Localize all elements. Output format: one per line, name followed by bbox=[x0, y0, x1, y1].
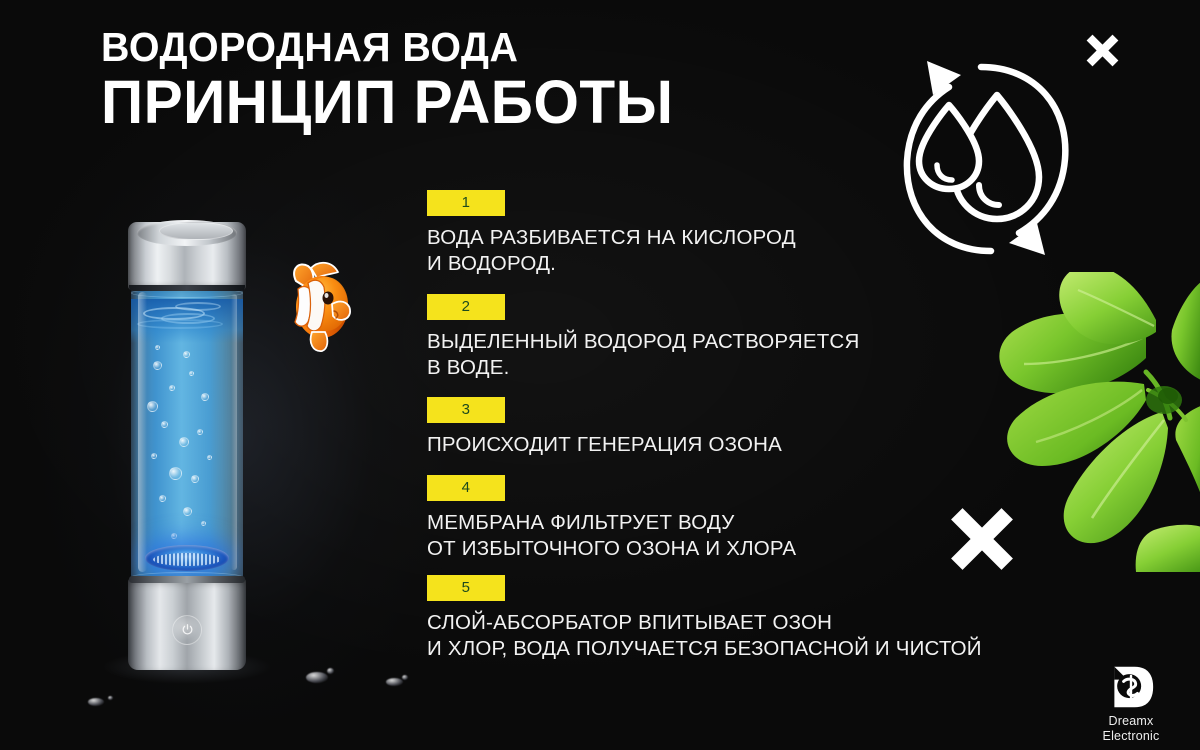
hydrogen-bubble bbox=[155, 345, 160, 350]
water-droplet bbox=[402, 675, 408, 680]
step-number-badge: 5 bbox=[427, 575, 505, 601]
hydrogen-bubble bbox=[183, 507, 192, 516]
bottle-base bbox=[128, 578, 246, 670]
hydrogen-bubble bbox=[169, 467, 182, 480]
hydrogen-bubble bbox=[189, 371, 194, 376]
step-number-badge: 3 bbox=[427, 397, 505, 423]
step-number-badge: 2 bbox=[427, 294, 505, 320]
water-droplet bbox=[386, 678, 403, 686]
step-item-5: 5 СЛОЙ-АБСОРБАТОР ВПИТЫВАЕТ ОЗОН И ХЛОР,… bbox=[427, 575, 982, 662]
electrolysis-mesh bbox=[153, 553, 221, 566]
hydrogen-bubble bbox=[207, 455, 212, 460]
power-icon bbox=[181, 623, 194, 636]
hydrogen-bubble bbox=[171, 533, 177, 539]
hydrogen-bubble bbox=[161, 421, 168, 428]
water-ripple bbox=[137, 319, 223, 329]
glass-highlight-left bbox=[138, 292, 147, 572]
hydrogen-water-bottle bbox=[128, 222, 246, 670]
water-droplet bbox=[327, 668, 334, 674]
water-ripple bbox=[175, 302, 221, 311]
step-description: СЛОЙ-АБСОРБАТОР ВПИТЫВАЕТ ОЗОН И ХЛОР, В… bbox=[427, 610, 982, 662]
hydrogen-bubble bbox=[159, 495, 166, 502]
step-item-2: 2 ВЫДЕЛЕННЫЙ ВОДОРОД РАСТВОРЯЕТСЯ В ВОДЕ… bbox=[427, 294, 859, 381]
heading-line-2: ПРИНЦИП РАБОТЫ bbox=[101, 72, 673, 133]
hydrogen-bubble bbox=[153, 361, 162, 370]
step-description: ВОДА РАЗБИВАЕТСЯ НА КИСЛОРОД И ВОДОРОД. bbox=[427, 225, 796, 277]
hydrogen-bubble bbox=[201, 393, 209, 401]
bottle-glass-body bbox=[131, 289, 243, 579]
cap-seal-band bbox=[129, 285, 245, 291]
step-number-badge: 1 bbox=[427, 190, 505, 216]
hydrogen-bubble bbox=[201, 521, 206, 526]
step-number-badge: 4 bbox=[427, 475, 505, 501]
x-mark-small-icon bbox=[1084, 32, 1121, 69]
step-item-4: 4 МЕМБРАНА ФИЛЬТРУЕТ ВОДУ ОТ ИЗБЫТОЧНОГО… bbox=[427, 475, 796, 562]
basil-leaves bbox=[996, 272, 1200, 572]
water-droplet bbox=[88, 698, 104, 706]
base-top-edge bbox=[129, 576, 245, 583]
step-description: ПРОИСХОДИТ ГЕНЕРАЦИЯ ОЗОНА bbox=[427, 432, 782, 458]
cap-top-disc bbox=[137, 220, 237, 246]
hydrogen-bubble bbox=[191, 475, 199, 483]
basil-leaf bbox=[1136, 525, 1200, 572]
brand-logo-text: Dreamx Electronic bbox=[1071, 714, 1191, 743]
clownfish bbox=[286, 252, 352, 384]
water-droplet bbox=[306, 672, 328, 683]
dreamx-logo-mark-icon bbox=[1107, 663, 1155, 711]
cap-inner-disc bbox=[159, 222, 233, 240]
step-item-3: 3 ПРОИСХОДИТ ГЕНЕРАЦИЯ ОЗОНА bbox=[427, 397, 782, 458]
water-droplet bbox=[108, 696, 113, 700]
hydrogen-bubble bbox=[179, 437, 189, 447]
hydrogen-bubble bbox=[183, 351, 190, 358]
poster-heading: ВОДОРОДНАЯ ВОДА ПРИНЦИП РАБОТЫ bbox=[101, 27, 697, 133]
hydrogen-bubble bbox=[151, 453, 157, 459]
basil-leaf bbox=[1171, 280, 1200, 382]
water-drops-recycle-icon bbox=[893, 43, 1083, 271]
poster: ВОДОРОДНАЯ ВОДА ПРИНЦИП РАБОТЫ 1 ВОДА РА… bbox=[0, 0, 1200, 750]
bottle-cap[interactable] bbox=[128, 222, 246, 290]
hydrogen-bubble bbox=[169, 385, 175, 391]
hydrogen-bubble bbox=[197, 429, 203, 435]
power-button[interactable] bbox=[172, 615, 202, 645]
step-description: ВЫДЕЛЕННЫЙ ВОДОРОД РАСТВОРЯЕТСЯ В ВОДЕ. bbox=[427, 329, 859, 381]
hydrogen-bubble bbox=[147, 401, 158, 412]
heading-line-1: ВОДОРОДНАЯ ВОДА bbox=[101, 27, 673, 69]
glass-highlight-right bbox=[231, 294, 237, 570]
step-description: МЕМБРАНА ФИЛЬТРУЕТ ВОДУ ОТ ИЗБЫТОЧНОГО О… bbox=[427, 510, 796, 562]
step-item-1: 1 ВОДА РАЗБИВАЕТСЯ НА КИСЛОРОД И ВОДОРОД… bbox=[427, 190, 796, 277]
brand-logo: Dreamx Electronic bbox=[1071, 663, 1191, 743]
